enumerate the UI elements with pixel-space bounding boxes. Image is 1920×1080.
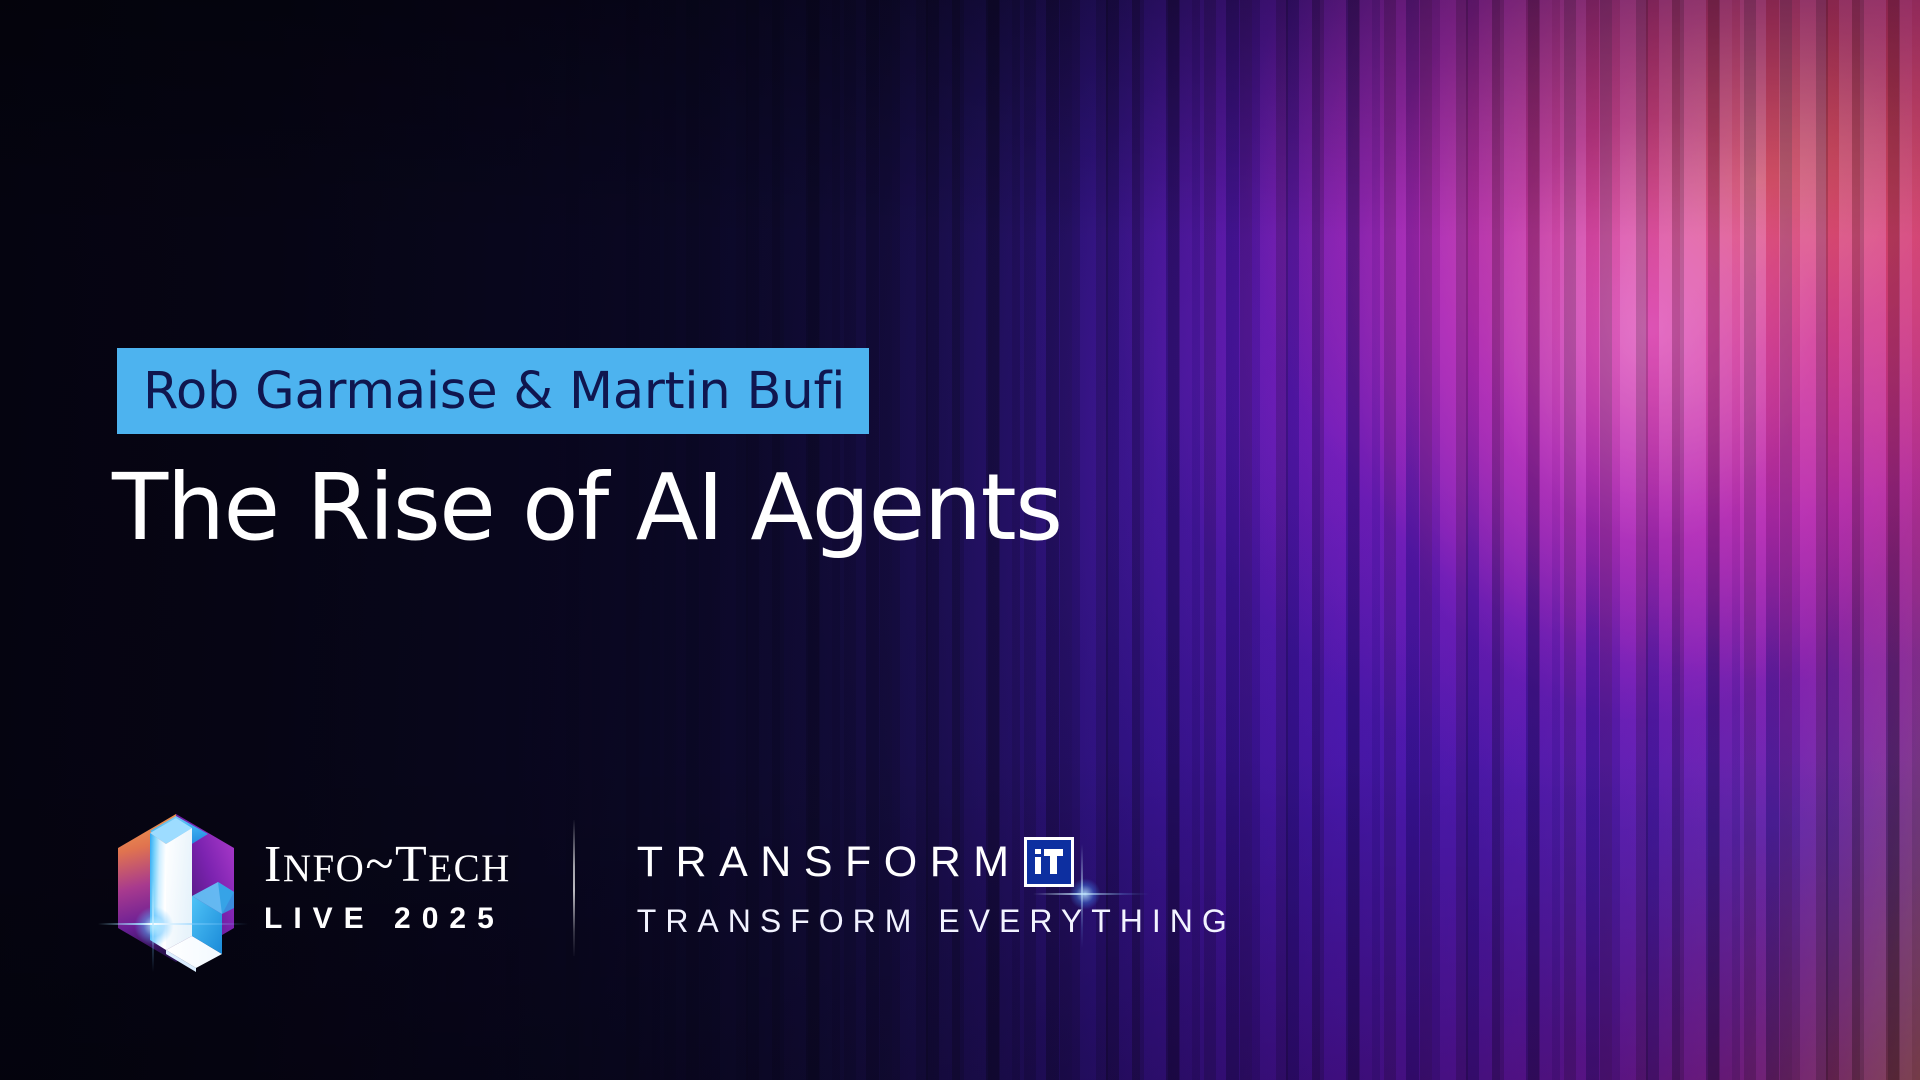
transform-title-row: TRANSFORM (637, 837, 1236, 887)
footer-logo-bar: INFO~TECH LIVE 2025 TRANSFORM (110, 800, 1236, 976)
transform-wordmark: TRANSFORM TRANSFORM EVERYTHING (637, 837, 1236, 939)
footer-divider-icon (573, 820, 575, 956)
presentation-slide: Rob Garmaise & Martin Bufi The Rise of A… (0, 0, 1920, 1080)
it-badge-icon (1024, 837, 1074, 887)
infotech-live-wordmark: INFO~TECH LIVE 2025 (264, 838, 511, 939)
speaker-names: Rob Garmaise & Martin Bufi (143, 366, 845, 417)
transform-tagline: TRANSFORM EVERYTHING (637, 905, 1236, 937)
transform-word: TRANSFORM (637, 841, 1022, 884)
infotech-live-year: LIVE 2025 (264, 904, 511, 934)
slide-content: Rob Garmaise & Martin Bufi The Rise of A… (0, 0, 1920, 1080)
speaker-name-banner: Rob Garmaise & Martin Bufi (117, 348, 869, 434)
slide-title: The Rise of AI Agents (112, 452, 1062, 564)
infotech-hexagon-l-logo-icon (110, 800, 242, 976)
infotech-name: INFO~TECH (264, 838, 511, 893)
